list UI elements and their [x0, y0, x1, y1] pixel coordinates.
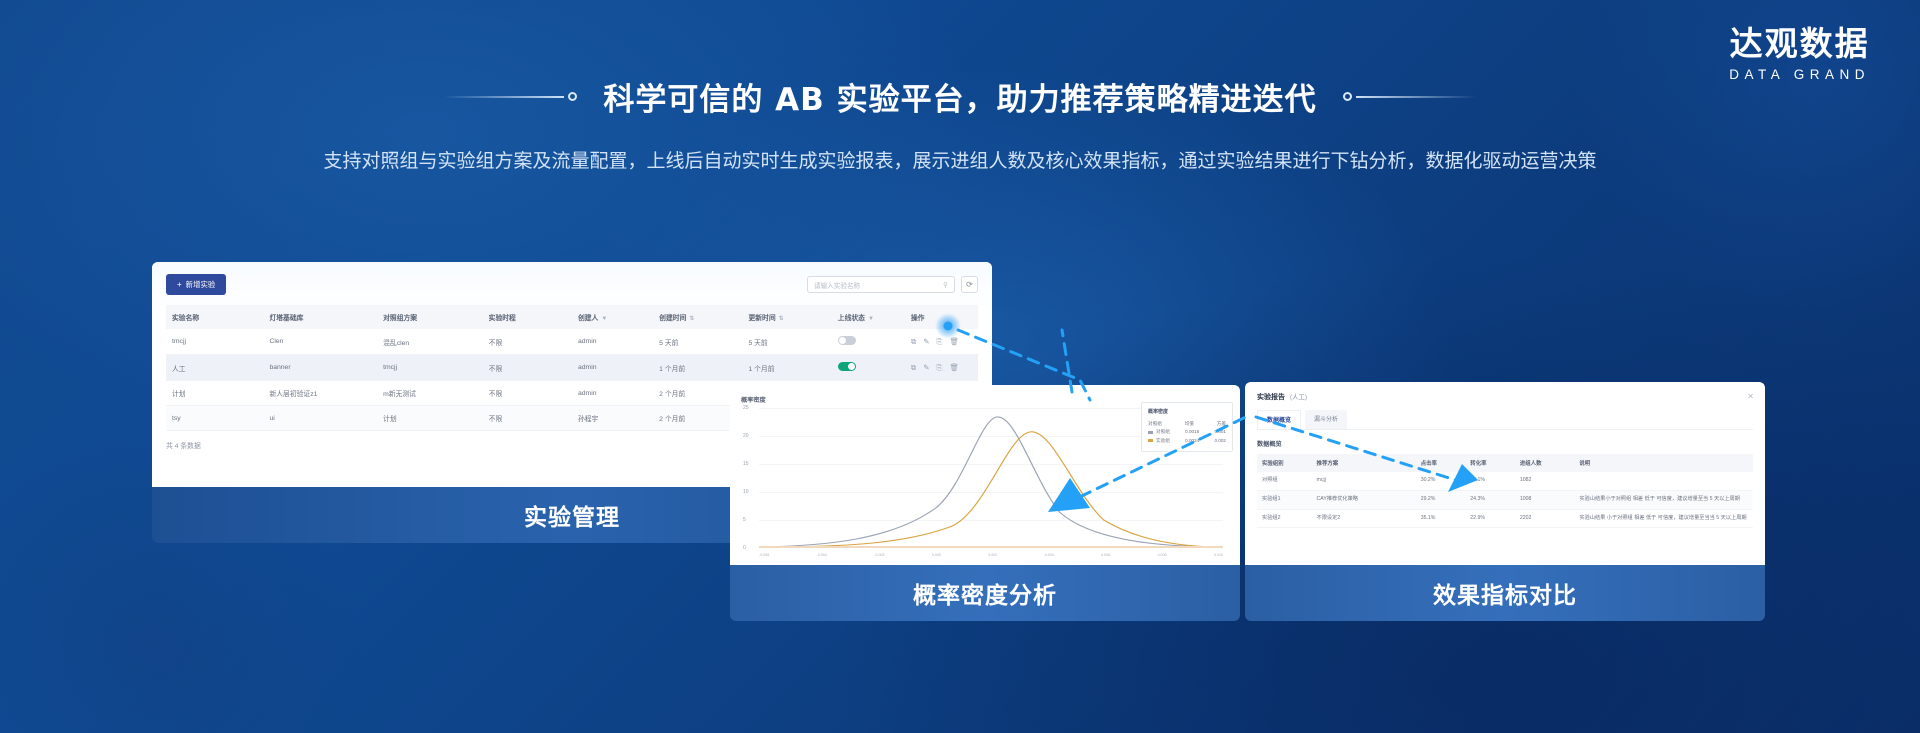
- cell-lib: banner: [263, 355, 377, 381]
- card-density-analysis: 概率密度 25 20 15 10 5 0: [730, 385, 1240, 621]
- col-updated[interactable]: 更新时间⇅: [742, 305, 831, 329]
- legend-row: 实验组 0.0034 0.002: [1148, 437, 1226, 446]
- click-indicator: [935, 313, 961, 339]
- report-title: 实验报告(人工): [1257, 392, 1753, 402]
- cell-name: tsy: [166, 406, 263, 431]
- y-tick: 10: [743, 489, 749, 495]
- legend-swatch: [1148, 439, 1153, 442]
- y-tick: 25: [743, 405, 749, 411]
- card-metric-comparison: ✕ 实验报告(人工) 数据概览 漏斗分析 数据概览 实验组别: [1245, 382, 1765, 621]
- cell-creator: admin: [572, 381, 653, 406]
- cell-plan: CAY推荐优化策略: [1312, 490, 1416, 509]
- x-tick: 0.004: [1045, 553, 1054, 557]
- cell-duration: 不限: [483, 406, 572, 431]
- x-tick: -0.004: [817, 553, 827, 557]
- legend-row: 对照组 均值 方差: [1148, 420, 1226, 429]
- col-creator[interactable]: 创建人▼: [572, 305, 653, 329]
- copy-icon[interactable]: ⧉: [911, 363, 916, 373]
- x-tick: -0.006: [759, 553, 769, 557]
- decoration-bar: [444, 96, 564, 98]
- legend-v1: 0.0018: [1185, 428, 1199, 437]
- col-plan: 推荐方案: [1312, 454, 1416, 472]
- table-header-row: 实验名称 灯塔基础库 对照组方案 实验时程 创建人▼ 创建时间⇅ 更新时间⇅ 上…: [166, 305, 978, 329]
- cell-cvr: 22.9%: [1465, 509, 1515, 528]
- cell-cvr: 24.3%: [1465, 490, 1515, 509]
- search-icon: ⚲: [943, 281, 948, 289]
- table-row: 对照组 mcjj 30.2% 20.1% 1082: [1257, 472, 1753, 490]
- cell-group: 实验组2: [1257, 509, 1312, 528]
- copy-icon[interactable]: ⧉: [911, 337, 916, 347]
- plus-icon: +: [177, 281, 182, 289]
- x-tick-labels: -0.006 -0.004 -0.002 0.000 0.002 0.004 0…: [759, 553, 1223, 557]
- cell-creator: admin: [572, 355, 653, 381]
- cell-name: 人工: [166, 355, 263, 381]
- legend-v2: 0.002: [1214, 437, 1226, 446]
- cell-duration: 不限: [483, 355, 572, 381]
- col-created[interactable]: 创建时间⇅: [653, 305, 742, 329]
- x-tick: 0.000: [932, 553, 941, 557]
- table-row: 实验组1 CAY推荐优化策略 29.2% 24.3% 1008 实验山结果小于对…: [1257, 490, 1753, 509]
- cell-ctr: 35.1%: [1416, 509, 1466, 528]
- card-caption: 效果指标对比: [1245, 565, 1765, 621]
- cell-duration: 不限: [483, 329, 572, 355]
- headline-decoration-left: [444, 92, 577, 101]
- density-chart-app: 概率密度 25 20 15 10 5 0: [731, 386, 1239, 565]
- new-experiment-label: 新增实验: [186, 279, 216, 290]
- filter-icon: ▼: [601, 316, 607, 322]
- col-online[interactable]: 上线状态▼: [832, 305, 905, 329]
- legend-label: 对照组: [1148, 428, 1170, 437]
- headline-decoration-right: [1343, 92, 1476, 101]
- cell-plan: mcjj: [1312, 472, 1416, 490]
- legend-title: 概率密度: [1148, 408, 1226, 418]
- cell-name: tmcjj: [166, 329, 263, 355]
- decoration-bar: [1356, 96, 1476, 98]
- search-input[interactable]: 请输入实验名称 ⚲: [807, 276, 955, 293]
- report-tabs: 数据概览 漏斗分析: [1257, 410, 1753, 430]
- sort-icon: ⇅: [689, 316, 694, 322]
- edit-icon[interactable]: ✎: [923, 337, 929, 347]
- tab-overview[interactable]: 数据概览: [1257, 410, 1301, 429]
- col-duration: 实验时程: [483, 305, 572, 329]
- cell-note: 实验山结果小于对照组 相差 低于 可信度，建议增量至当 5 天以上周期: [1574, 490, 1753, 509]
- experiment-report-app: ✕ 实验报告(人工) 数据概览 漏斗分析 数据概览 实验组别: [1246, 383, 1764, 565]
- screenshot-experiment-report: ✕ 实验报告(人工) 数据概览 漏斗分析 数据概览 实验组别: [1245, 382, 1765, 565]
- col-name: 实验名称: [166, 305, 263, 329]
- headline-row: 科学可信的 AB 实验平台，助力推荐策略精进迭代: [0, 74, 1920, 119]
- cell-group: 实验组1: [1257, 490, 1312, 509]
- card-caption: 概率密度分析: [730, 565, 1240, 621]
- cell-ctr: 29.2%: [1416, 490, 1466, 509]
- y-tick: 5: [743, 517, 746, 523]
- report-section-title: 数据概览: [1257, 439, 1753, 448]
- x-tick: 0.006: [1101, 553, 1110, 557]
- chart-x-axis: [759, 546, 1223, 548]
- cell-ctr: 30.2%: [1416, 472, 1466, 490]
- legend-v2: 0.001: [1214, 428, 1226, 437]
- cell-actions: ⧉ ✎ ⎘ 🗑: [905, 355, 978, 381]
- legend-label: 对照组: [1148, 420, 1162, 429]
- cell-lib: Clen: [263, 329, 377, 355]
- table-row[interactable]: 人工 banner tmcjj 不限 admin 1 个月前 1 个月前 ⧉: [166, 355, 978, 381]
- col-group: 实验组别: [1257, 454, 1312, 472]
- cell-plan: tmcjj: [377, 355, 483, 381]
- col-note: 说明: [1574, 454, 1753, 472]
- x-tick: -0.002: [874, 553, 884, 557]
- y-tick: 15: [743, 461, 749, 467]
- table-row[interactable]: tmcjj Clen 混乱clen 不限 admin 5 天前 5 天前 ⧉: [166, 329, 978, 355]
- decoration-dot: [1343, 92, 1352, 101]
- brand-name-cn: 达观数据: [1729, 26, 1870, 62]
- x-tick: 0.008: [1158, 553, 1167, 557]
- cell-group: 对照组: [1257, 472, 1312, 490]
- y-tick: 20: [743, 433, 749, 439]
- y-tick: 0: [743, 545, 746, 551]
- x-tick: 0.002: [988, 553, 997, 557]
- table-row: 实验组2 不限设定2 35.1% 22.9% 2202 实验山结果 小于对照组 …: [1257, 509, 1753, 528]
- x-tick: 0.010: [1214, 553, 1223, 557]
- decoration-dot: [568, 92, 577, 101]
- col-lib: 灯塔基础库: [263, 305, 377, 329]
- cell-lib: ui: [263, 406, 377, 431]
- report-table: 实验组别 推荐方案 点击率 转化率 进组人数 说明 对照组 mcjj 30.2%: [1257, 454, 1753, 528]
- cell-note: 实验山结果 小于对照组 相差 低于 可信度，建议增量至当当 5 天以上周期: [1574, 509, 1753, 528]
- col-ctr: 点击率: [1416, 454, 1466, 472]
- cell-users: 1008: [1515, 490, 1575, 509]
- col-cvr: 转化率: [1465, 454, 1515, 472]
- cell-updated: 5 天前: [742, 329, 831, 355]
- new-experiment-button[interactable]: + 新增实验: [166, 274, 226, 295]
- cell-users: 2202: [1515, 509, 1575, 528]
- table-header-row: 实验组别 推荐方案 点击率 转化率 进组人数 说明: [1257, 454, 1753, 472]
- col-plan: 对照组方案: [377, 305, 483, 329]
- cell-creator: admin: [572, 329, 653, 355]
- cell-created: 5 天前: [653, 329, 742, 355]
- cell-created: 1 个月前: [653, 355, 742, 381]
- tab-funnel[interactable]: 漏斗分析: [1305, 410, 1347, 429]
- cell-plan: 计划: [377, 406, 483, 431]
- cell-online[interactable]: [832, 355, 905, 381]
- cell-online[interactable]: [832, 329, 905, 355]
- cell-name: 计划: [166, 381, 263, 406]
- cell-users: 1082: [1515, 472, 1575, 490]
- legend-v1: 均值: [1185, 420, 1194, 429]
- legend-label: 实验组: [1148, 437, 1170, 446]
- col-users: 进组人数: [1515, 454, 1575, 472]
- cell-updated: 1 个月前: [742, 355, 831, 381]
- online-toggle[interactable]: [838, 362, 856, 371]
- page-subtitle: 支持对照组与实验组方案及流量配置，上线后自动实时生成实验报表，展示进组人数及核心…: [250, 144, 1670, 178]
- filter-icon: ▼: [868, 316, 874, 322]
- online-toggle[interactable]: [838, 336, 856, 345]
- cell-cvr: 20.1%: [1465, 472, 1515, 490]
- cell-creator: 孙程宇: [572, 406, 653, 431]
- legend-v2: 方差: [1217, 420, 1226, 429]
- sort-icon: ⇅: [779, 316, 784, 322]
- cell-duration: 不限: [483, 381, 572, 406]
- edit-icon[interactable]: ✎: [923, 363, 929, 373]
- cell-plan: 混乱clen: [377, 329, 483, 355]
- chart-legend: 概率密度 对照组 均值 方差 对照组 0.0018 0.001 实验组 0.00…: [1141, 402, 1233, 452]
- refresh-icon[interactable]: ⟳: [961, 276, 978, 293]
- slide-root: 达观数据 DATA GRAND 科学可信的 AB 实验平台，助力推荐策略精进迭代…: [0, 0, 1920, 733]
- legend-row: 对照组 0.0018 0.001: [1148, 428, 1226, 437]
- cell-plan: m新无测试: [377, 381, 483, 406]
- cell-plan: 不限设定2: [1312, 509, 1416, 528]
- report-icon[interactable]: ⎘: [937, 337, 943, 347]
- connector-2: [1062, 330, 1072, 392]
- cell-lib: 新人层初验证z1: [263, 381, 377, 406]
- legend-swatch: [1148, 431, 1153, 434]
- screenshot-density-chart: 概率密度 25 20 15 10 5 0: [730, 385, 1240, 565]
- search-area: 请输入实验名称 ⚲ ⟳: [807, 276, 978, 293]
- cell-note: [1574, 472, 1753, 490]
- delete-icon[interactable]: 🗑: [950, 363, 960, 373]
- legend-v1: 0.0034: [1185, 437, 1199, 446]
- page-title: 科学可信的 AB 实验平台，助力推荐策略精进迭代: [603, 74, 1316, 119]
- close-icon[interactable]: ✕: [1747, 392, 1754, 401]
- report-icon[interactable]: ⎘: [937, 363, 943, 373]
- experiment-toolbar: + 新增实验 请输入实验名称 ⚲ ⟳: [166, 274, 978, 295]
- search-placeholder: 请输入实验名称: [814, 280, 860, 290]
